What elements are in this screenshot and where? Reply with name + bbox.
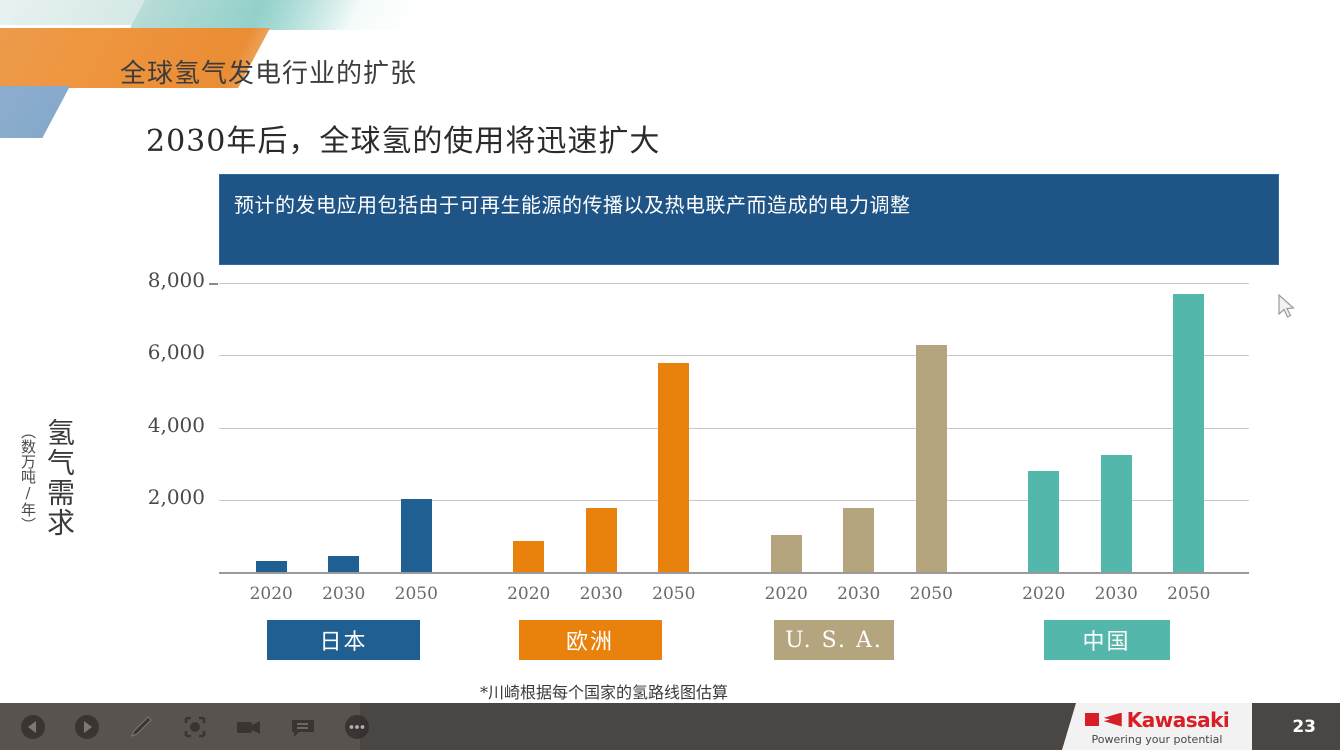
bar-中国-2020 bbox=[1028, 471, 1059, 572]
footnote: *川崎根据每个国家的氢路线图估算 bbox=[480, 679, 728, 703]
bar-U. S. A.-2030 bbox=[843, 508, 874, 572]
kawasaki-arrow-icon bbox=[1104, 713, 1122, 727]
slide-subtitle: 2030年后，全球氢的使用将迅速扩大 bbox=[146, 116, 660, 160]
group-label-U. S. A.: U. S. A. bbox=[774, 620, 894, 660]
decor-band-teal bbox=[129, 0, 520, 30]
y-axis-tick-label: 4,000 bbox=[100, 413, 205, 437]
callout-banner: 预计的发电应用包括由于可再生能源的传播以及热电联产而造成的电力调整 bbox=[219, 174, 1279, 265]
laser-pointer-icon[interactable] bbox=[180, 712, 210, 742]
plot-area bbox=[219, 258, 1249, 572]
x-axis-tick-label: 2030 bbox=[819, 584, 899, 604]
bar-欧洲-2030 bbox=[586, 508, 617, 572]
kawasaki-square-icon bbox=[1085, 713, 1099, 726]
group-label-日本: 日本 bbox=[267, 620, 420, 660]
slide-title: 全球氢气发电行业的扩张 bbox=[120, 53, 417, 90]
x-axis-tick-label: 2020 bbox=[231, 584, 311, 604]
video-camera-icon[interactable] bbox=[234, 712, 264, 742]
y-axis-tick-label: 6,000 bbox=[100, 340, 205, 364]
group-label-中国: 中国 bbox=[1044, 620, 1170, 660]
kawasaki-logo: Kawasaki Powering your potential bbox=[1062, 703, 1252, 750]
decor-band-blue bbox=[0, 86, 70, 138]
bar-U. S. A.-2050 bbox=[916, 345, 947, 572]
x-axis-tick-label: 2030 bbox=[1076, 584, 1156, 604]
chat-comment-icon[interactable] bbox=[288, 712, 318, 742]
mouse-cursor bbox=[1277, 294, 1297, 320]
bar-U. S. A.-2020 bbox=[771, 535, 802, 572]
x-axis-tick-label: 2050 bbox=[891, 584, 971, 604]
bar-中国-2050 bbox=[1173, 294, 1204, 572]
kawasaki-tagline: Powering your potential bbox=[1092, 733, 1223, 746]
gridline bbox=[219, 355, 1249, 356]
kawasaki-wordmark: Kawasaki bbox=[1127, 708, 1230, 732]
group-label-欧洲: 欧洲 bbox=[519, 620, 662, 660]
x-axis-tick-label: 2050 bbox=[1149, 584, 1229, 604]
y-axis-title: 氢气需求 bbox=[39, 418, 79, 538]
more-options-icon[interactable] bbox=[342, 712, 372, 742]
gridline bbox=[219, 428, 1249, 429]
y-axis-unit: （数万吨/年） bbox=[18, 424, 39, 532]
x-axis-tick-label: 2050 bbox=[634, 584, 714, 604]
gridline bbox=[219, 500, 1249, 501]
presenter-bottom-bar: Kawasaki Powering your potential 23 bbox=[0, 703, 1340, 750]
bar-chart: 2,0004,0006,0008,000 2020203020502020203… bbox=[0, 0, 1340, 750]
callout-banner-text: 预计的发电应用包括由于可再生能源的传播以及热电联产而造成的电力调整 bbox=[220, 175, 911, 218]
y-axis-tick-mark bbox=[209, 283, 218, 285]
bar-日本-2020 bbox=[256, 561, 287, 572]
y-axis-tick-label: 2,000 bbox=[100, 485, 205, 509]
bar-日本-2030 bbox=[328, 556, 359, 572]
pen-annotate-icon[interactable] bbox=[126, 712, 156, 742]
x-axis-baseline bbox=[219, 572, 1249, 574]
previous-slide-icon[interactable] bbox=[18, 712, 48, 742]
x-axis-tick-label: 2020 bbox=[489, 584, 569, 604]
bar-欧洲-2020 bbox=[513, 541, 544, 572]
presenter-toolbar[interactable] bbox=[18, 703, 372, 750]
y-axis-title-group: 氢气需求 （数万吨/年） bbox=[18, 418, 79, 538]
x-axis-tick-label: 2020 bbox=[746, 584, 826, 604]
bar-中国-2030 bbox=[1101, 455, 1132, 572]
next-slide-icon[interactable] bbox=[72, 712, 102, 742]
bar-日本-2050 bbox=[401, 499, 432, 572]
x-axis-tick-label: 2030 bbox=[304, 584, 384, 604]
decor-band-teal-light bbox=[0, 0, 190, 25]
x-axis-tick-label: 2020 bbox=[1004, 584, 1084, 604]
y-axis-tick-label: 8,000 bbox=[100, 268, 205, 292]
x-axis-tick-label: 2030 bbox=[561, 584, 641, 604]
bar-欧洲-2050 bbox=[658, 363, 689, 572]
page-number: 23 bbox=[1292, 703, 1316, 750]
kawasaki-logo-row: Kawasaki bbox=[1085, 708, 1230, 732]
x-axis-tick-label: 2050 bbox=[376, 584, 456, 604]
gridline bbox=[219, 283, 1249, 284]
